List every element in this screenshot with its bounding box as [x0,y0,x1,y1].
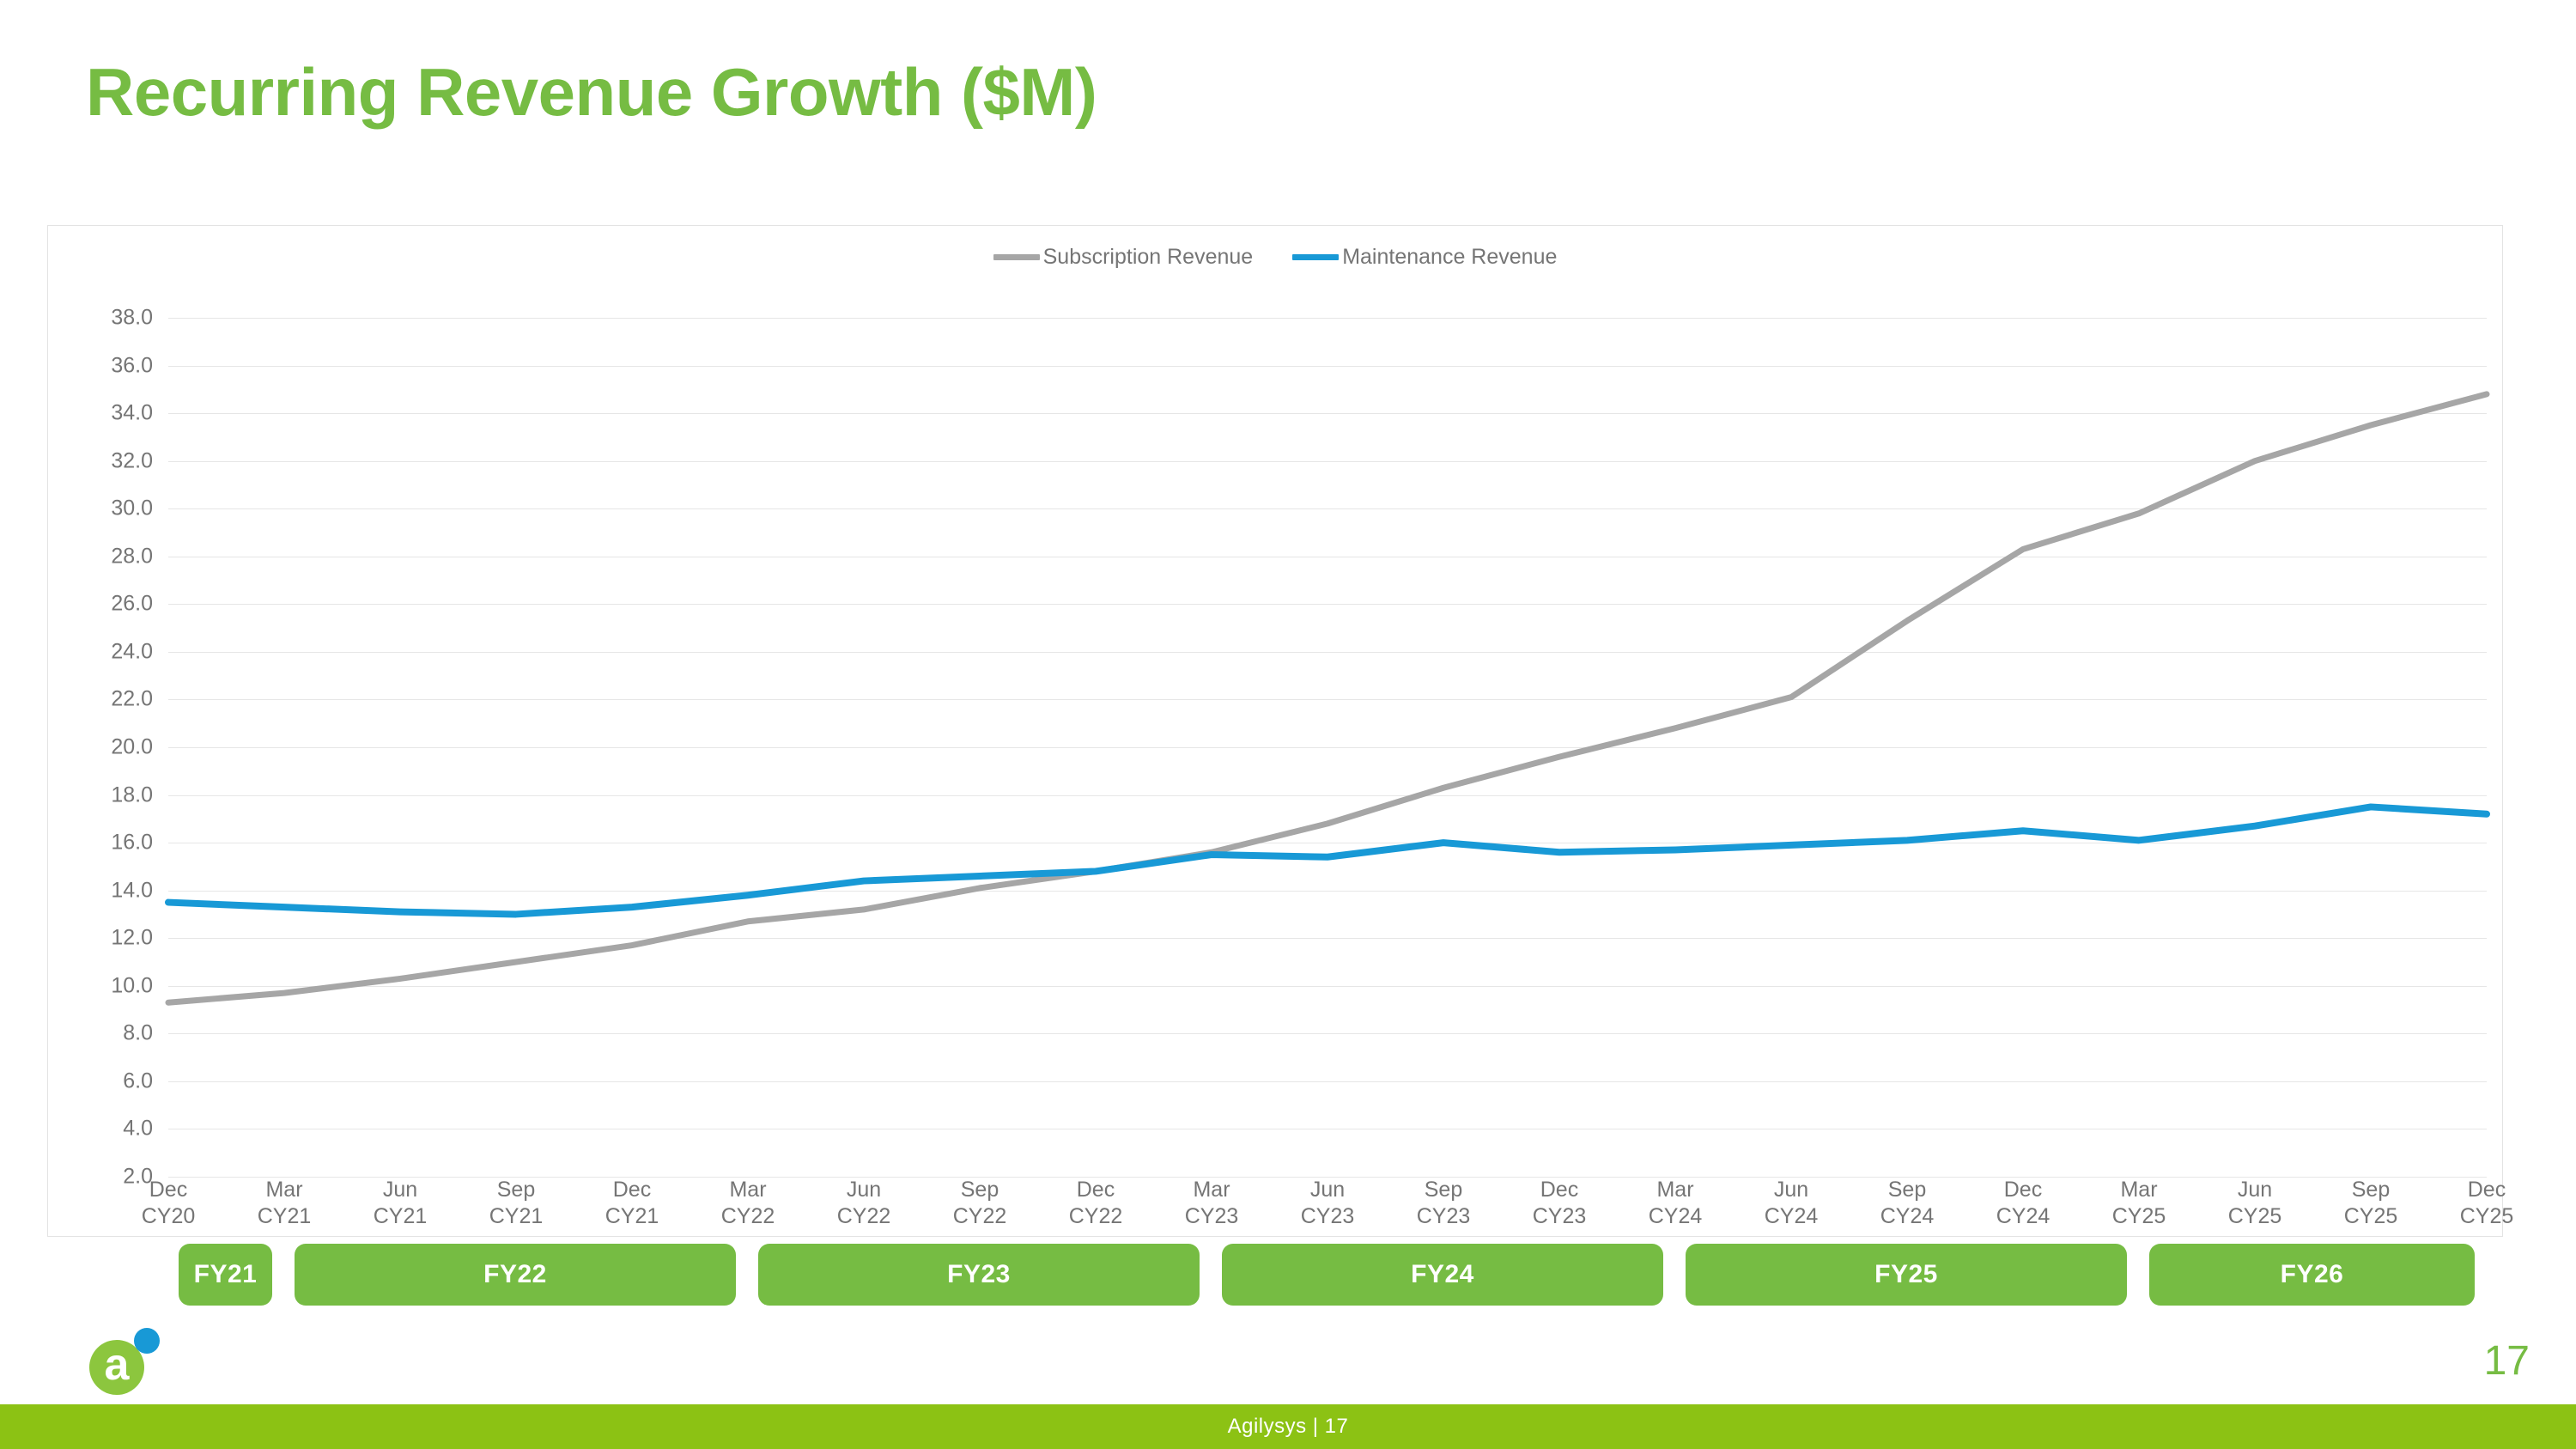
fiscal-year-bands: FY21FY22FY23FY24FY25FY26 [47,1244,2503,1306]
x-axis-tick-label: DecCY23 [1533,1177,1587,1231]
y-axis-tick-label: 24.0 [111,639,153,664]
legend-item-subscription[interactable]: Subscription Revenue [993,245,1254,270]
y-axis-tick-label: 14.0 [111,878,153,903]
y-axis-tick-label: 30.0 [111,496,153,521]
x-axis-tick-label: MarCY25 [2112,1177,2166,1231]
y-axis-tick-label: 4.0 [123,1117,153,1142]
y-axis-tick-label: 16.0 [111,831,153,855]
x-axis-tick-label: JunCY21 [374,1177,428,1231]
y-axis-tick-label: 22.0 [111,687,153,712]
x-axis-tick-label: JunCY24 [1765,1177,1819,1231]
x-axis-tick-label: DecCY24 [1996,1177,2050,1231]
series-lines [168,318,2487,1177]
footer-text: Agilysys | 17 [1228,1415,1349,1439]
x-axis-tick-label: DecCY25 [2460,1177,2514,1231]
y-axis-tick-label: 6.0 [123,1068,153,1093]
legend-label: Maintenance Revenue [1342,245,1557,270]
logo-blue-dot-shape [134,1328,160,1354]
x-axis-tick-label: SepCY21 [489,1177,544,1231]
fiscal-year-band-fy25: FY25 [1686,1244,2127,1306]
x-axis-labels: DecCY20MarCY21JunCY21SepCY21DecCY21MarCY… [168,1177,2487,1235]
plot-area: 38.036.034.032.030.028.026.024.022.020.0… [168,318,2487,1177]
y-axis-tick-label: 18.0 [111,782,153,807]
footer-bar: Agilysys | 17 [0,1404,2576,1449]
x-axis-tick-label: DecCY22 [1069,1177,1123,1231]
x-axis-tick-label: JunCY25 [2228,1177,2282,1231]
legend-item-maintenance[interactable]: Maintenance Revenue [1292,245,1557,270]
x-axis-tick-label: DecCY21 [605,1177,659,1231]
y-axis-tick-label: 12.0 [111,926,153,951]
legend-swatch-icon [1292,254,1339,260]
page-title: Recurring Revenue Growth ($M) [86,53,1097,131]
y-axis-tick-label: 38.0 [111,306,153,331]
page-number: 17 [2484,1337,2530,1385]
x-axis-tick-label: SepCY23 [1417,1177,1471,1231]
fiscal-year-band-fy26: FY26 [2149,1244,2475,1306]
x-axis-tick-label: MarCY22 [721,1177,775,1231]
chart-container: Subscription RevenueMaintenance Revenue … [47,225,2503,1237]
y-axis-tick-label: 8.0 [123,1021,153,1046]
slide-root: Recurring Revenue Growth ($M) Subscripti… [0,0,2576,1449]
x-axis-tick-label: MarCY21 [258,1177,312,1231]
fiscal-year-band-fy23: FY23 [758,1244,1200,1306]
x-axis-tick-label: JunCY22 [837,1177,891,1231]
y-axis-tick-label: 10.0 [111,973,153,998]
y-axis-tick-label: 20.0 [111,735,153,760]
y-axis-tick-label: 26.0 [111,592,153,617]
x-axis-tick-label: MarCY24 [1649,1177,1703,1231]
agilysys-logo-icon: a [89,1323,192,1400]
legend-swatch-icon [993,254,1040,260]
x-axis-tick-label: DecCY20 [142,1177,196,1231]
x-axis-tick-label: SepCY25 [2344,1177,2398,1231]
legend-label: Subscription Revenue [1043,245,1254,270]
x-axis-tick-label: MarCY23 [1185,1177,1239,1231]
x-axis-tick-label: SepCY24 [1880,1177,1935,1231]
y-axis-tick-label: 34.0 [111,401,153,426]
chart-legend: Subscription RevenueMaintenance Revenue [48,245,2502,270]
y-axis-tick-label: 28.0 [111,544,153,569]
fiscal-year-band-fy24: FY24 [1222,1244,1663,1306]
fiscal-year-band-fy22: FY22 [295,1244,736,1306]
fiscal-year-band-fy21: FY21 [179,1244,272,1306]
x-axis-tick-label: JunCY23 [1301,1177,1355,1231]
y-axis-tick-label: 36.0 [111,353,153,378]
y-axis-tick-label: 32.0 [111,448,153,473]
x-axis-tick-label: SepCY22 [953,1177,1007,1231]
